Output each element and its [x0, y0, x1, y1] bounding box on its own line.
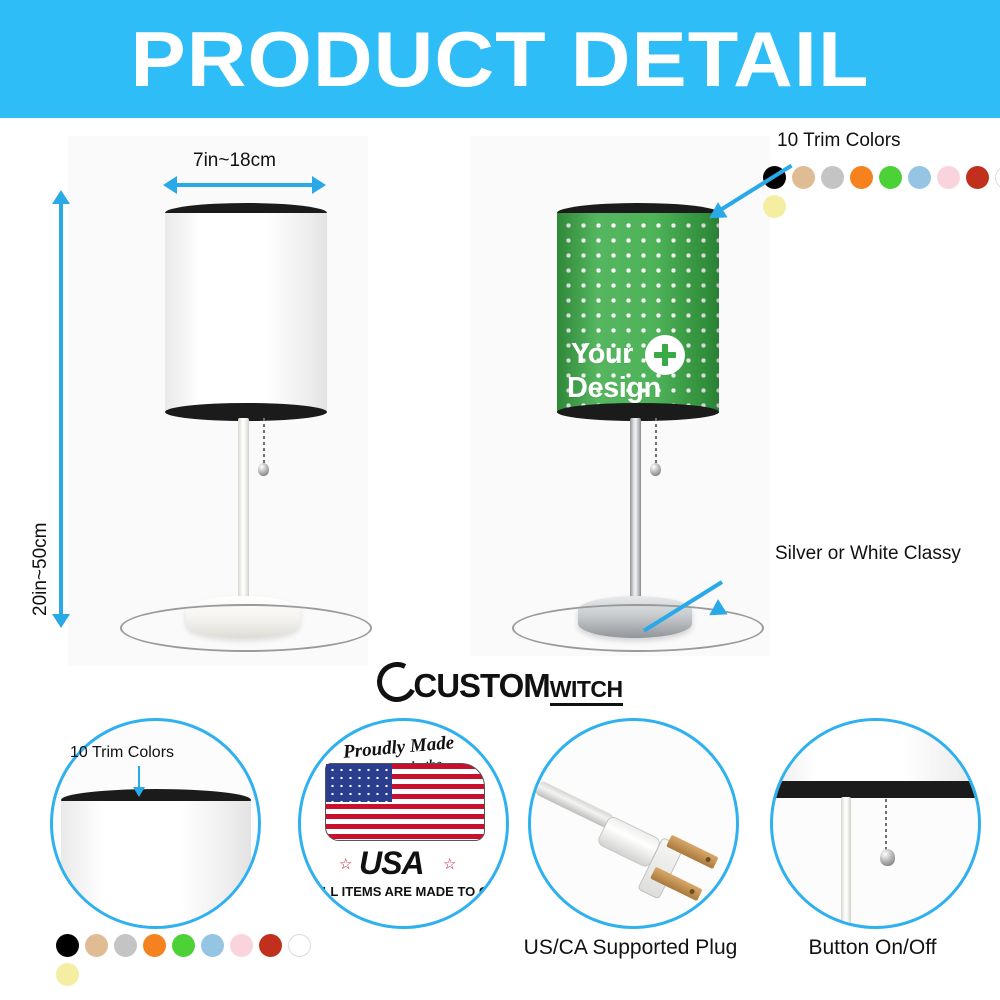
shade-body-green: Your Design	[557, 213, 719, 413]
pull-chain-green	[655, 418, 657, 466]
power-cord-loop	[120, 604, 372, 652]
trim-swatch-orange[interactable]	[850, 166, 873, 189]
usa-badge-subtitle: ALL ITEMS ARE MADE TO ORDER!	[313, 884, 509, 899]
trim-swatch-dark-red[interactable]	[966, 166, 989, 189]
logo-secondary-text: WITCH	[550, 676, 623, 706]
feature-shade-body	[61, 801, 251, 929]
trim-swatch-dark-red[interactable]	[259, 934, 282, 957]
trim-swatch-green[interactable]	[172, 934, 195, 957]
width-dimension-label: 7in~18cm	[193, 150, 276, 172]
trim-swatch-yellow[interactable]	[56, 963, 79, 986]
width-dimension-arrow	[163, 176, 326, 194]
usa-star-left-icon: ☆	[339, 855, 352, 873]
shade-body-white	[165, 213, 327, 413]
trim-swatch-gray[interactable]	[821, 166, 844, 189]
plus-icon	[645, 335, 685, 375]
arrow-head-up	[52, 190, 70, 204]
arrow-head-down	[52, 614, 70, 628]
trim-swatch-pink[interactable]	[937, 166, 960, 189]
trim-colors-top-label: 10 Trim Colors	[777, 130, 901, 152]
trim-swatch-gray[interactable]	[114, 934, 137, 957]
switch-pole	[841, 797, 851, 927]
trim-colors-down-arrow	[138, 766, 140, 788]
usa-flag-canton	[326, 764, 392, 802]
design-text-line2: Design	[567, 373, 661, 403]
feature-panels: 10 Trim Colors Proudly Made in the USA ☆…	[0, 708, 1000, 1000]
feature-made-in-usa: Proudly Made in the USA ☆ ☆ ALL ITEMS AR…	[288, 718, 508, 938]
feature-swatch-row-secondary[interactable]	[56, 963, 79, 986]
plug-cord	[534, 780, 616, 830]
pull-chain-ball	[258, 463, 269, 476]
usa-badge-word: USA	[359, 845, 424, 882]
height-dimension-arrow	[52, 190, 70, 628]
page-title: PRODUCT DETAIL	[0, 16, 1000, 102]
trim-swatch-tan[interactable]	[85, 934, 108, 957]
feature-switch: Button On/Off	[760, 718, 980, 978]
header-banner: PRODUCT DETAIL	[0, 0, 1000, 118]
height-dimension-label: 20in~50cm	[30, 523, 52, 616]
lamp-pole-silver	[630, 418, 641, 608]
switch-pull-chain	[885, 799, 887, 851]
trim-swatch-pink[interactable]	[230, 934, 253, 957]
arrow-head-left	[163, 176, 177, 194]
trim-swatch-light-blue[interactable]	[908, 166, 931, 189]
trim-swatch-black[interactable]	[56, 934, 79, 957]
trim-swatch-white[interactable]	[995, 166, 1000, 189]
switch-shade-trim	[770, 781, 981, 798]
feature-plug-caption: US/CA Supported Plug	[508, 936, 753, 960]
trim-swatch-orange[interactable]	[143, 934, 166, 957]
feature-plug: US/CA Supported Plug	[518, 718, 748, 978]
switch-chain-ball	[880, 849, 895, 866]
trim-swatch-green[interactable]	[879, 166, 902, 189]
trim-callout-arrow	[700, 168, 810, 238]
feature-switch-caption: Button On/Off	[760, 936, 985, 960]
arrow-head-right	[312, 176, 326, 194]
brand-logo: CUSTOMWITCH	[0, 662, 1000, 705]
feature-trim-colors-label: 10 Trim Colors	[70, 744, 174, 762]
lamp-pole-white	[238, 418, 249, 608]
plug-circle	[528, 718, 739, 929]
logo-primary-text: CUSTOM	[413, 667, 549, 704]
usa-badge-circle: Proudly Made in the USA ☆ ☆ ALL ITEMS AR…	[298, 718, 509, 929]
product-stage: 7in~18cm 20in~50cm Your Design	[0, 118, 1000, 703]
usa-star-right-icon: ☆	[443, 855, 456, 873]
feature-trim-colors: 10 Trim Colors	[40, 718, 260, 998]
trim-swatch-light-blue[interactable]	[201, 934, 224, 957]
pull-chain	[263, 418, 265, 466]
switch-circle	[770, 718, 981, 929]
base-finish-arrow	[700, 558, 820, 628]
usa-flag-map-icon	[325, 763, 485, 841]
pull-chain-ball-green	[650, 463, 661, 476]
feature-swatch-row-primary[interactable]	[56, 934, 311, 957]
design-text-line1: Your	[571, 339, 633, 369]
switch-shade-body	[770, 718, 981, 785]
